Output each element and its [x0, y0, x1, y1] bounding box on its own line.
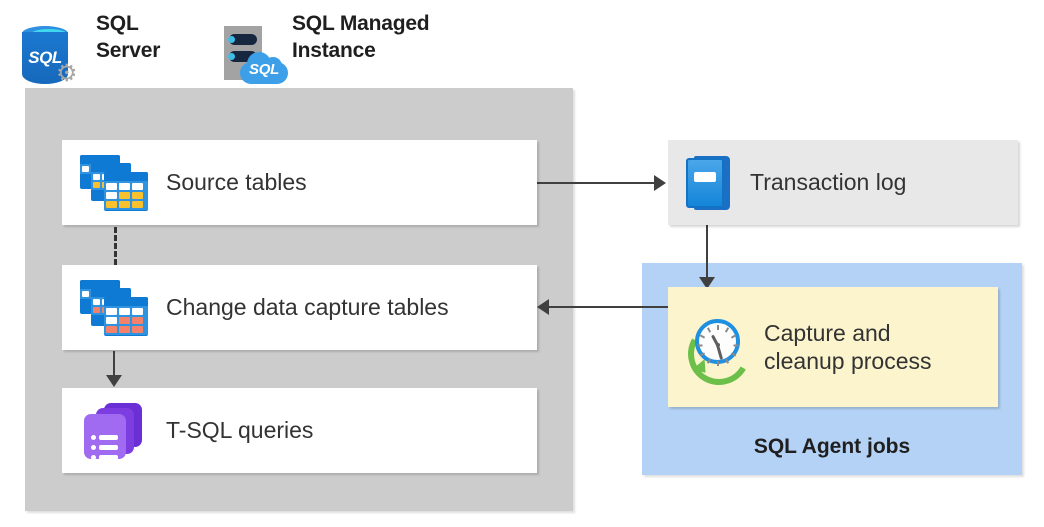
header-sql-managed-instance: SQL Managed Instance [292, 10, 429, 64]
node-cdc-tables[interactable]: Change data capture tables [62, 265, 537, 350]
tsql-queries-icon [62, 403, 166, 459]
book-label [694, 172, 716, 182]
node-tsql-queries[interactable]: T-SQL queries [62, 388, 537, 473]
sql-database-icon: SQL ⚙ [18, 26, 78, 88]
rack-led-1 [228, 36, 235, 43]
cloud-sql-text: SQL [240, 61, 288, 78]
node-label-tsql-queries: T-SQL queries [166, 416, 313, 444]
header-sql-server: SQL Server [96, 10, 160, 64]
clock-center-pin [716, 343, 720, 347]
node-capture-cleanup[interactable]: Capture and cleanup process [668, 287, 998, 407]
node-label-capture-cleanup: Capture and cleanup process [764, 319, 932, 375]
transaction-log-book-icon [668, 156, 750, 210]
gear-icon: ⚙ [56, 62, 80, 86]
sql-agent-jobs-title: SQL Agent jobs [642, 435, 1022, 459]
rack-led-2 [228, 53, 235, 60]
node-label-cdc-tables: Change data capture tables [166, 293, 449, 321]
source-tables-icon [62, 155, 166, 211]
cdc-tables-icon [62, 280, 166, 336]
node-transaction-log[interactable]: Transaction log [668, 140, 1018, 225]
node-source-tables[interactable]: Source tables [62, 140, 537, 225]
sql-managed-instance-icon: SQL [222, 26, 288, 88]
clock-face [695, 319, 740, 364]
node-label-transaction-log: Transaction log [750, 168, 906, 196]
node-label-source-tables: Source tables [166, 168, 307, 196]
book-front-cover [686, 158, 724, 208]
cloud-icon: SQL [240, 50, 288, 84]
clock-refresh-icon [668, 319, 764, 375]
diagram-canvas: SQL ⚙ SQL Server SQL SQL Managed Instanc… [0, 0, 1044, 527]
